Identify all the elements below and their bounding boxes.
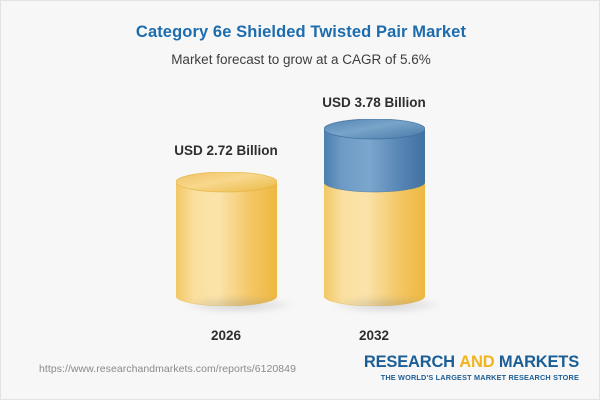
bar-value-label: USD 2.72 Billion (146, 143, 306, 158)
chart-subtitle: Market forecast to grow at a CAGR of 5.6… (1, 52, 600, 67)
cylinder-bar-2026 (176, 172, 277, 306)
bar-group-2026: USD 2.72 Billion (146, 81, 306, 351)
market-infographic: Category 6e Shielded Twisted Pair Market… (0, 0, 600, 400)
logo-word-research: RESEARCH (364, 353, 455, 371)
category-label-2032: 2032 (294, 328, 454, 343)
bar-value-label: USD 3.78 Billion (294, 95, 454, 110)
chart-plot-area: USD 2.72 Billion (1, 81, 600, 351)
bar-shadow (184, 296, 294, 314)
logo-word-and: AND (459, 353, 494, 371)
logo-tagline: THE WORLD'S LARGEST MARKET RESEARCH STOR… (364, 373, 579, 382)
logo-word-markets: MARKETS (499, 353, 579, 371)
cylinder-bar-2032 (324, 119, 425, 306)
report-url[interactable]: https://www.researchandmarkets.com/repor… (39, 363, 296, 375)
bar-group-2032: USD 3.78 Billion (294, 81, 454, 351)
footer: https://www.researchandmarkets.com/repor… (1, 349, 600, 399)
bar-shadow (332, 296, 442, 314)
cylinder-graphic-2026 (176, 172, 277, 306)
logo-wordmark: RESEARCH AND MARKETS (364, 354, 579, 371)
category-label-2026: 2026 (146, 328, 306, 343)
research-and-markets-logo[interactable]: RESEARCH AND MARKETS THE WORLD'S LARGEST… (364, 354, 579, 382)
page-title: Category 6e Shielded Twisted Pair Market (1, 23, 600, 42)
cylinder-graphic-2032 (324, 119, 425, 306)
